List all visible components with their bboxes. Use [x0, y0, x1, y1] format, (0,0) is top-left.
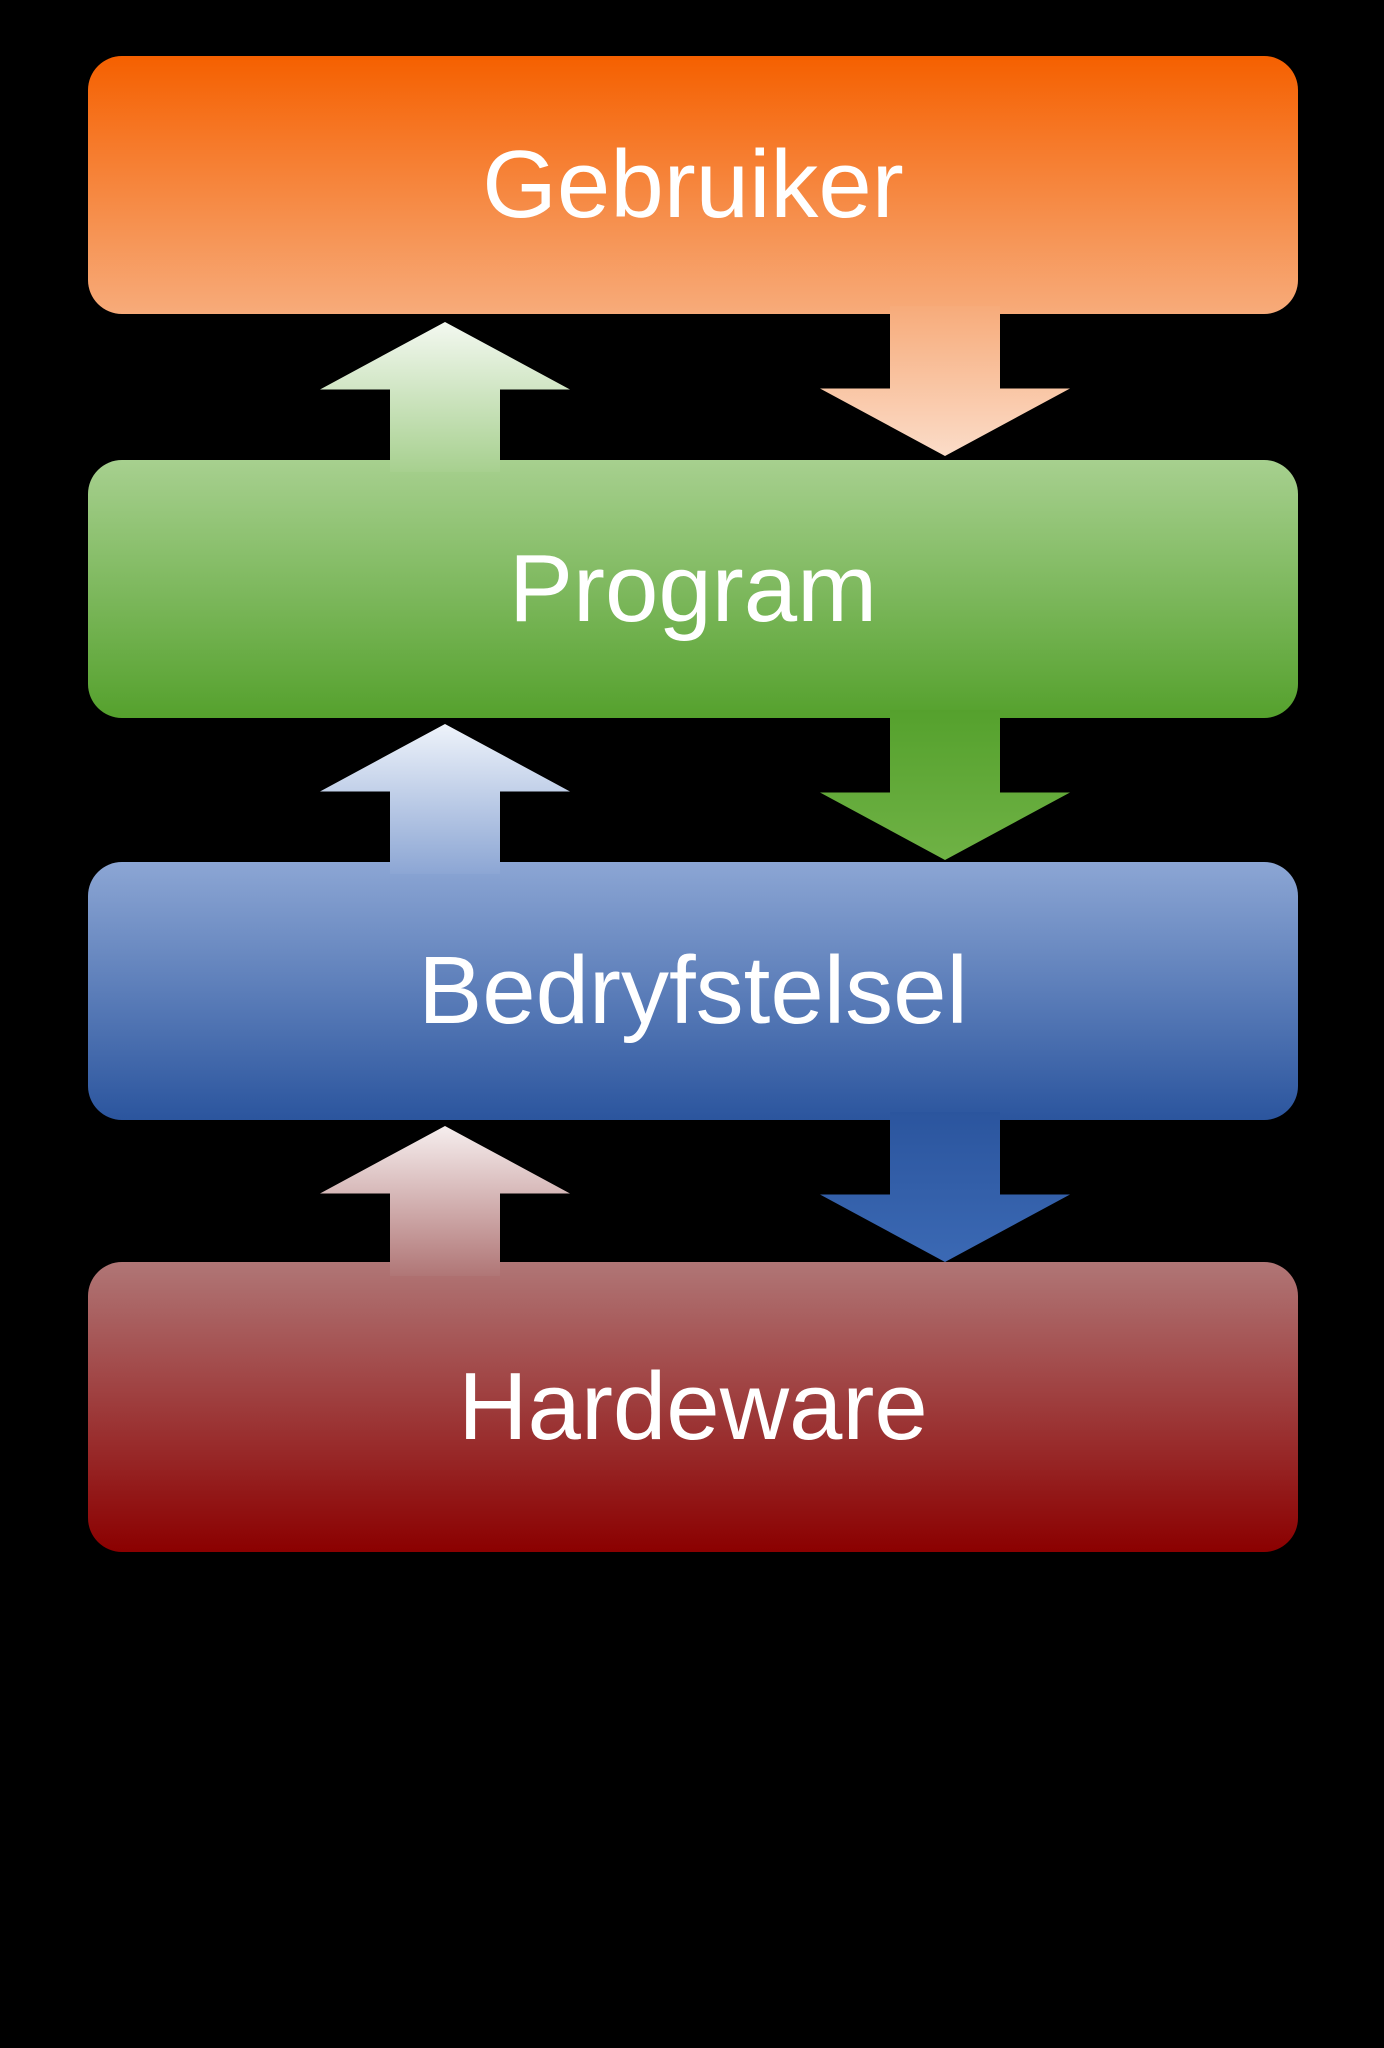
arrow-glyph-up-icon — [320, 322, 570, 472]
layer-label-program: Program — [509, 541, 877, 637]
arrow-glyph-down-icon — [820, 1112, 1070, 1262]
layer-box-gebruiker[interactable]: Gebruiker — [88, 56, 1298, 314]
arrow-glyph-up-icon — [320, 1126, 570, 1276]
arrow-down-gebruiker-to-program — [820, 306, 1070, 456]
arrow-glyph-down-icon — [820, 710, 1070, 860]
arrow-down-bedryfstelsel-to-hardeware — [820, 1112, 1070, 1262]
arrow-glyph-up-icon — [320, 724, 570, 874]
arrow-up-program-to-gebruiker — [320, 322, 570, 472]
arrow-up-hardeware-to-bedryfstelsel — [320, 1126, 570, 1276]
layer-label-hardeware: Hardeware — [458, 1359, 928, 1455]
diagram-canvas: Gebruiker Program Bedryfstelsel Hardewar… — [0, 0, 1384, 2048]
layer-box-bedryfstelsel[interactable]: Bedryfstelsel — [88, 862, 1298, 1120]
layer-box-hardeware[interactable]: Hardeware — [88, 1262, 1298, 1552]
arrow-down-program-to-bedryfstelsel — [820, 710, 1070, 860]
layer-label-bedryfstelsel: Bedryfstelsel — [418, 943, 968, 1039]
arrow-glyph-down-icon — [820, 306, 1070, 456]
layer-label-gebruiker: Gebruiker — [482, 137, 904, 233]
arrow-up-bedryfstelsel-to-program — [320, 724, 570, 874]
layer-box-program[interactable]: Program — [88, 460, 1298, 718]
